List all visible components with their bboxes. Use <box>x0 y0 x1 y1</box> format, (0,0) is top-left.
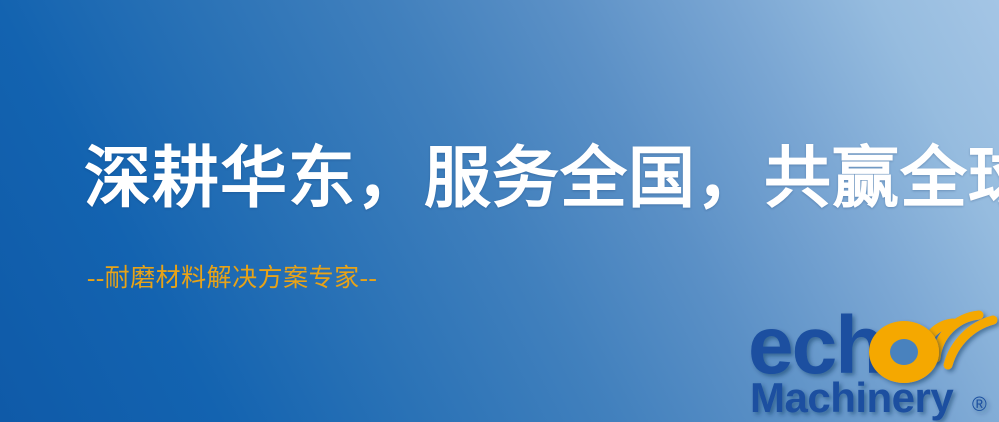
promo-banner: 深耕华东，服务全国，共赢全球 --耐磨材料解决方案专家-- ech <box>0 0 999 422</box>
registered-trademark-icon: ® <box>972 394 987 416</box>
svg-text:Machinery: Machinery <box>750 374 954 421</box>
logo-subwordmark-machinery: Machinery ® <box>750 374 987 421</box>
page-title: 深耕华东，服务全国，共赢全球 <box>84 146 999 213</box>
banner-subtitle: --耐磨材料解决方案专家-- <box>87 266 377 291</box>
echo-machinery-logo: ech Machinery ® <box>748 296 999 422</box>
